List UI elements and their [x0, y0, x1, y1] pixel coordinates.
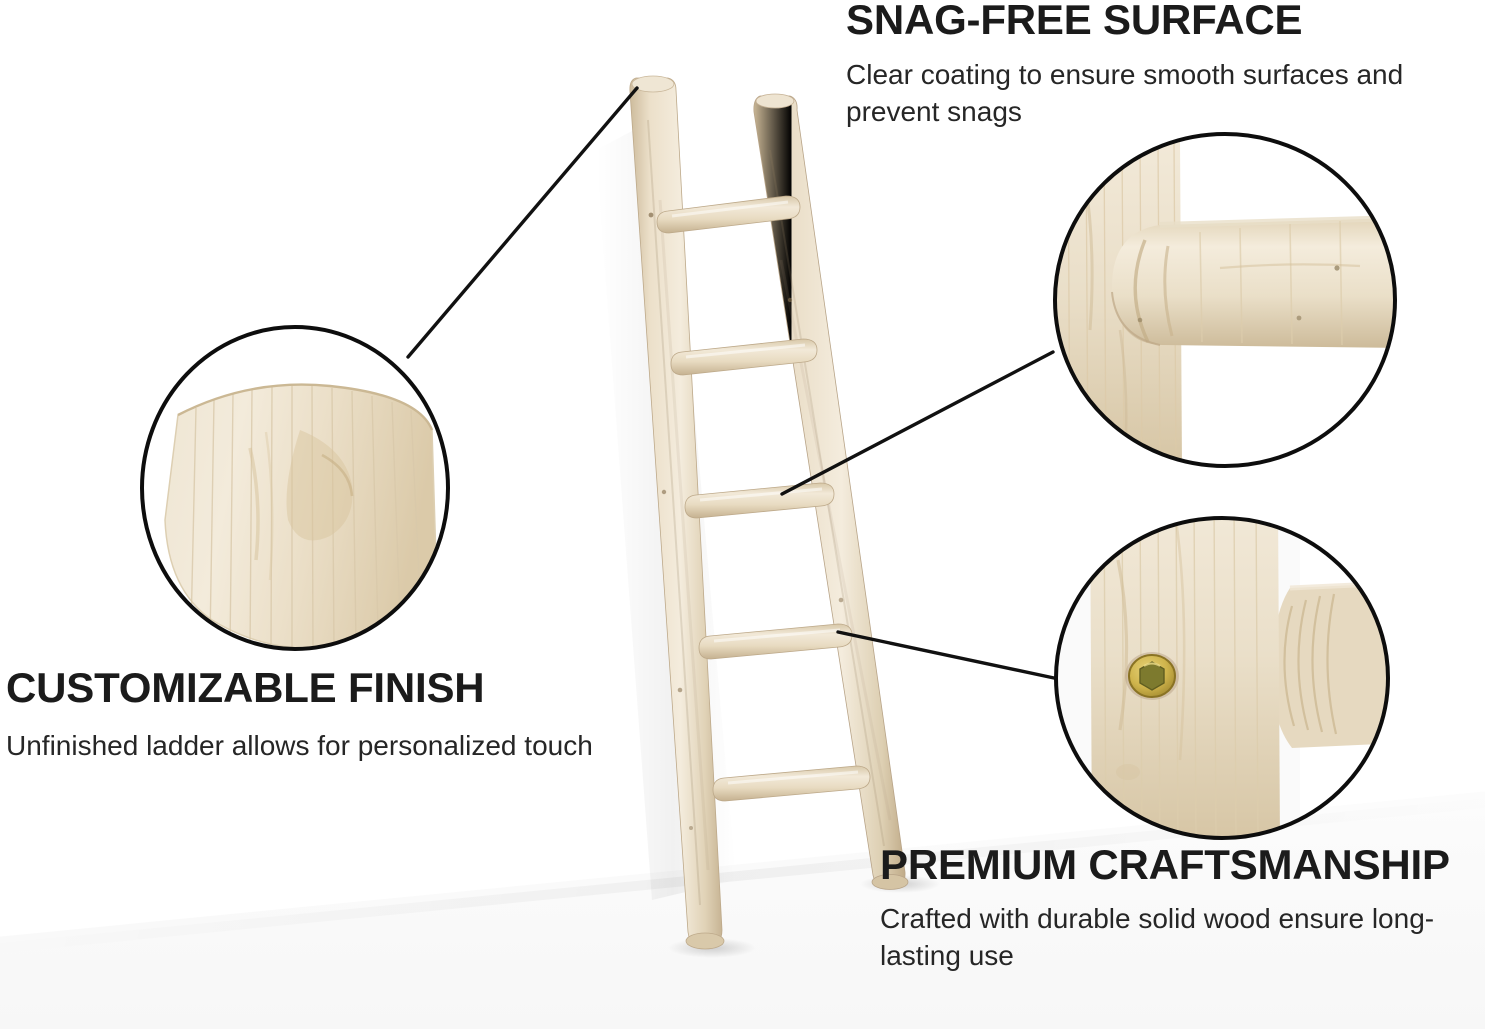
feature-body-premium-craftsmanship: Crafted with durable solid wood ensure l…	[880, 900, 1480, 974]
feature-body-snag-free-surface: Clear coating to ensure smooth surfaces …	[846, 56, 1466, 130]
feature-title-premium-craftsmanship: PREMIUM CRAFTSMANSHIP	[880, 843, 1450, 887]
leader-snag-free-surface	[782, 352, 1053, 494]
brass-screw-icon	[1125, 652, 1179, 700]
feature-body-customizable-finish: Unfinished ladder allows for personalize…	[6, 727, 626, 764]
leader-premium-craftsmanship	[838, 632, 1054, 678]
infographic-canvas: SNAG-FREE SURFACE Clear coating to ensur…	[0, 0, 1485, 1029]
feature-title-snag-free-surface: SNAG-FREE SURFACE	[846, 0, 1302, 42]
feature-title-customizable-finish: CUSTOMIZABLE FINISH	[6, 666, 484, 710]
leader-lines	[408, 88, 1054, 678]
detail-circle-snag-free-surface	[1050, 130, 1410, 475]
leader-customizable-finish	[408, 88, 637, 357]
detail-circle-premium-craftsmanship	[1050, 500, 1424, 845]
detail-circle-customizable-finish	[140, 325, 452, 654]
